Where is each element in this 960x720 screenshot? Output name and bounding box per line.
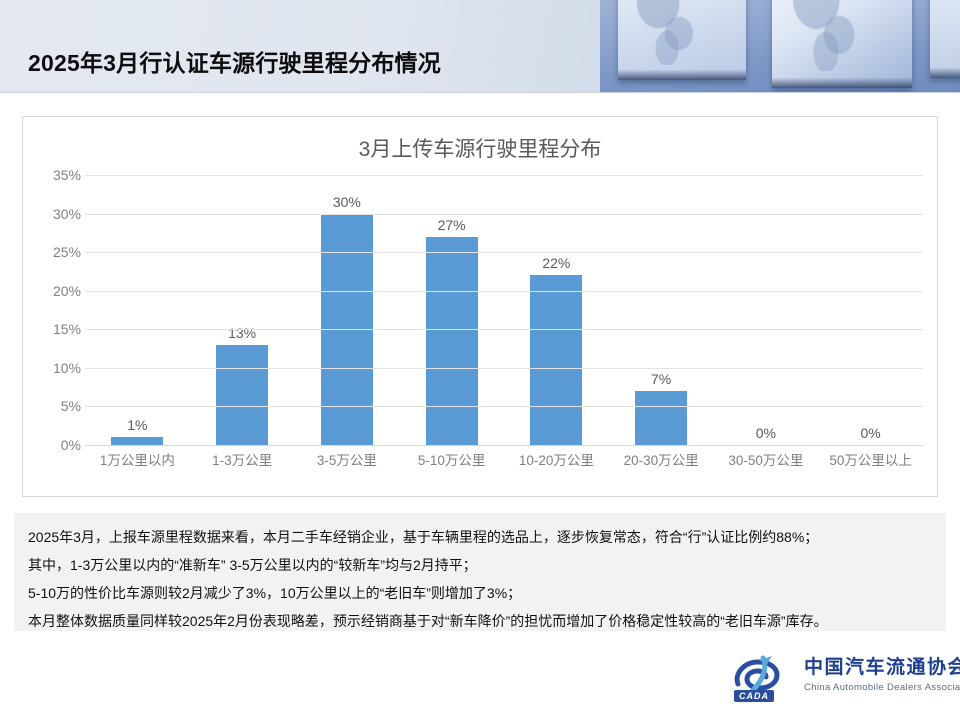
gridline: [85, 291, 923, 292]
chart-plot-wrapper: 35%30%25%20%15%10%5%0% 1%13%30%27%22%7%0…: [23, 175, 939, 498]
gridline: [85, 406, 923, 407]
bar-value-label: 7%: [651, 371, 671, 387]
x-axis-tick-label: 5-10万公里: [399, 449, 504, 469]
bar-series: 1%13%30%27%22%7%0%0%: [85, 175, 923, 445]
bar[interactable]: [426, 237, 478, 445]
bar-slot: 0%: [714, 175, 819, 445]
slide-root: 2025年3月行认证车源行驶里程分布情况 3月上传车源行驶里程分布 35%30%…: [0, 0, 960, 720]
x-axis-tick-label: 20-30万公里: [609, 449, 714, 469]
header-decorative-cubes-image: [600, 0, 960, 92]
logo-english-name: China Automobile Dealers Association: [804, 682, 946, 693]
organization-logo: CADA 中国汽车流通协会 China Automobile Dealers A…: [730, 652, 946, 706]
cube-shape-1: [618, 0, 746, 80]
axis-baseline: [85, 445, 923, 446]
y-axis-tick-label: 20%: [53, 283, 81, 299]
plot-area: 1%13%30%27%22%7%0%0%: [85, 175, 923, 445]
commentary-line: 其中，1-3万公里以内的“准新车” 3-5万公里以内的“较新车”均与2月持平；: [28, 551, 934, 579]
commentary-line: 5-10万的性价比车源则较2月减少了3%，10万公里以上的“老旧车”则增加了3%…: [28, 579, 934, 607]
slide-header: 2025年3月行认证车源行驶里程分布情况: [0, 0, 960, 92]
cube-shadow: [618, 70, 746, 80]
gridline: [85, 368, 923, 369]
logo-wordmark: 中国汽车流通协会 China Automobile Dealers Associ…: [804, 652, 946, 693]
y-axis: 35%30%25%20%15%10%5%0%: [33, 175, 81, 445]
y-axis-tick-label: 35%: [53, 167, 81, 183]
bar-value-label: 1%: [127, 417, 147, 433]
world-map-texture: [792, 0, 873, 71]
y-axis-tick-label: 10%: [53, 360, 81, 376]
gridline: [85, 252, 923, 253]
bar-slot: 0%: [818, 175, 923, 445]
chart-container: 3月上传车源行驶里程分布 35%30%25%20%15%10%5%0% 1%13…: [22, 116, 938, 497]
x-axis-tick-label: 10-20万公里: [504, 449, 609, 469]
y-axis-tick-label: 15%: [53, 321, 81, 337]
bar[interactable]: [111, 437, 163, 445]
bar-value-label: 0%: [861, 425, 881, 441]
world-map-texture: [636, 0, 710, 65]
bar-slot: 30%: [295, 175, 400, 445]
y-axis-tick-label: 5%: [61, 398, 81, 414]
bar-value-label: 13%: [228, 325, 256, 341]
x-axis-tick-label: 1-3万公里: [190, 449, 295, 469]
bar-value-label: 22%: [542, 255, 570, 271]
y-axis-tick-label: 30%: [53, 206, 81, 222]
gridline: [85, 214, 923, 215]
bar[interactable]: [530, 275, 582, 445]
x-axis-tick-label: 1万公里以内: [85, 449, 190, 469]
cube-shadow: [930, 68, 960, 78]
gridline: [85, 175, 923, 176]
bar[interactable]: [635, 391, 687, 445]
bar-value-label: 30%: [333, 194, 361, 210]
bar-value-label: 27%: [438, 217, 466, 233]
cube-shadow: [772, 78, 912, 88]
x-axis-tick-label: 3-5万公里: [295, 449, 400, 469]
bar-slot: 13%: [190, 175, 295, 445]
cube-shape-3: [930, 0, 960, 78]
cube-shape-2: [772, 0, 912, 88]
x-axis-tick-label: 30-50万公里: [714, 449, 819, 469]
x-axis-tick-label: 50万公里以上: [818, 449, 923, 469]
bar-slot: 27%: [399, 175, 504, 445]
cada-badge-text: CADA: [734, 690, 774, 702]
bar-slot: 22%: [504, 175, 609, 445]
bar[interactable]: [216, 345, 268, 445]
chart-title: 3月上传车源行驶里程分布: [23, 133, 937, 163]
commentary-line: 2025年3月，上报车源里程数据来看，本月二手车经销企业，基于车辆里程的选品上，…: [28, 523, 934, 551]
y-axis-tick-label: 0%: [61, 437, 81, 453]
bar-slot: 1%: [85, 175, 190, 445]
bar-value-label: 0%: [756, 425, 776, 441]
gridline: [85, 329, 923, 330]
logo-chinese-name: 中国汽车流通协会: [804, 652, 946, 679]
cada-emblem-icon: CADA: [730, 654, 796, 702]
header-divider: [0, 92, 960, 93]
page-title: 2025年3月行认证车源行驶里程分布情况: [28, 44, 441, 78]
commentary-line: 本月整体数据质量同样较2025年2月份表现略差，预示经销商基于对“新车降价”的担…: [28, 607, 934, 635]
commentary-panel: 2025年3月，上报车源里程数据来看，本月二手车经销企业，基于车辆里程的选品上，…: [14, 513, 946, 631]
x-axis: 1万公里以内1-3万公里3-5万公里5-10万公里10-20万公里20-30万公…: [85, 449, 923, 483]
y-axis-tick-label: 25%: [53, 244, 81, 260]
bar-slot: 7%: [609, 175, 714, 445]
